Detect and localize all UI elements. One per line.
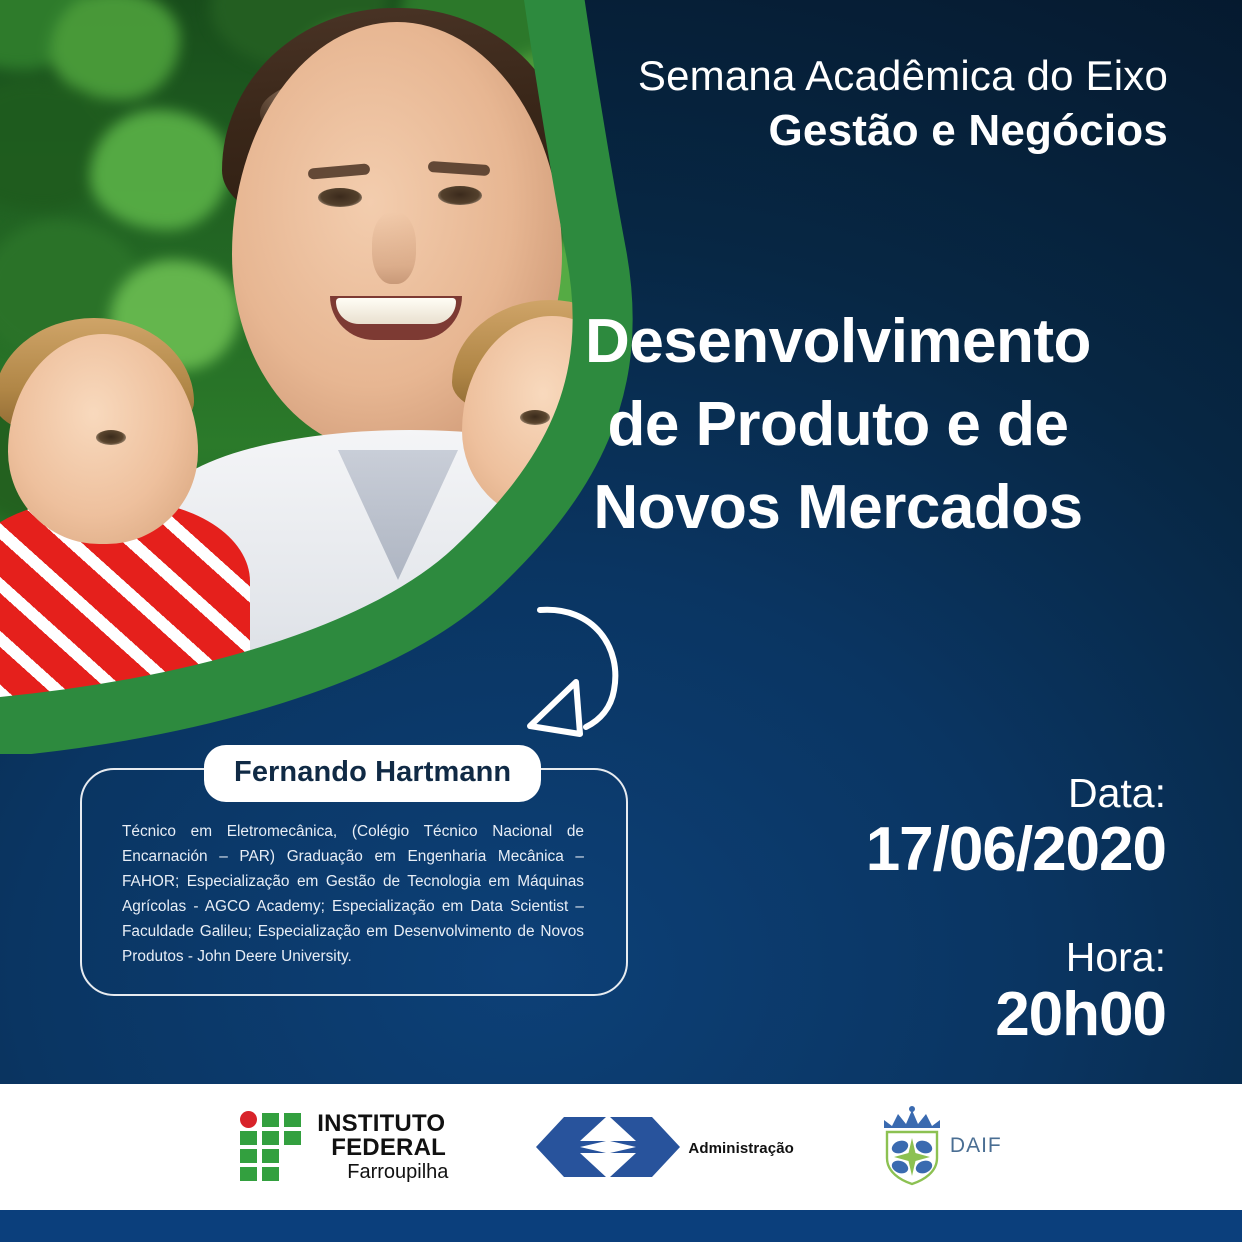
speaker-bio: Técnico em Eletromecânica, (Colégio Técn… xyxy=(122,820,584,970)
title-line-1: Desenvolvimento xyxy=(508,300,1168,383)
event-kicker: Semana Acadêmica do Eixo xyxy=(638,52,1168,100)
footer-accent-strip xyxy=(0,1210,1242,1242)
instituto-federal-logo: INSTITUTO FEDERAL Farroupilha xyxy=(240,1111,448,1183)
if-line-3: Farroupilha xyxy=(347,1162,448,1182)
if-line-2: FEDERAL xyxy=(331,1136,448,1160)
curved-arrow-icon xyxy=(516,586,646,746)
administracao-label: Administração xyxy=(688,1140,794,1157)
date-label: Data: xyxy=(746,772,1166,815)
event-poster: Semana Acadêmica do Eixo Gestão e Negóci… xyxy=(0,0,1242,1242)
daif-label: DAIF xyxy=(950,1134,1002,1158)
event-kicker-strong: Gestão e Negócios xyxy=(638,106,1168,156)
administracao-logo: Administração xyxy=(528,1111,794,1183)
title-line-2: de Produto e de xyxy=(508,383,1168,466)
header-block: Semana Acadêmica do Eixo Gestão e Negóci… xyxy=(638,52,1168,156)
if-line-1: INSTITUTO xyxy=(317,1112,448,1136)
administracao-logo-icon xyxy=(528,1111,688,1183)
instituto-federal-logo-icon xyxy=(240,1111,304,1183)
page-title: Desenvolvimento de Produto e de Novos Me… xyxy=(508,300,1168,549)
daif-crest-icon xyxy=(874,1106,950,1188)
date-value: 17/06/2020 xyxy=(746,815,1166,884)
daif-logo: DAIF xyxy=(874,1106,1002,1188)
speaker-name-badge: Fernando Hartmann xyxy=(204,745,541,802)
title-line-3: Novos Mercados xyxy=(508,466,1168,549)
event-datetime: Data: 17/06/2020 Hora: 20h00 xyxy=(746,772,1166,1049)
time-value: 20h00 xyxy=(746,980,1166,1049)
time-label: Hora: xyxy=(746,936,1166,979)
footer-logos: INSTITUTO FEDERAL Farroupilha Administra… xyxy=(0,1084,1242,1210)
